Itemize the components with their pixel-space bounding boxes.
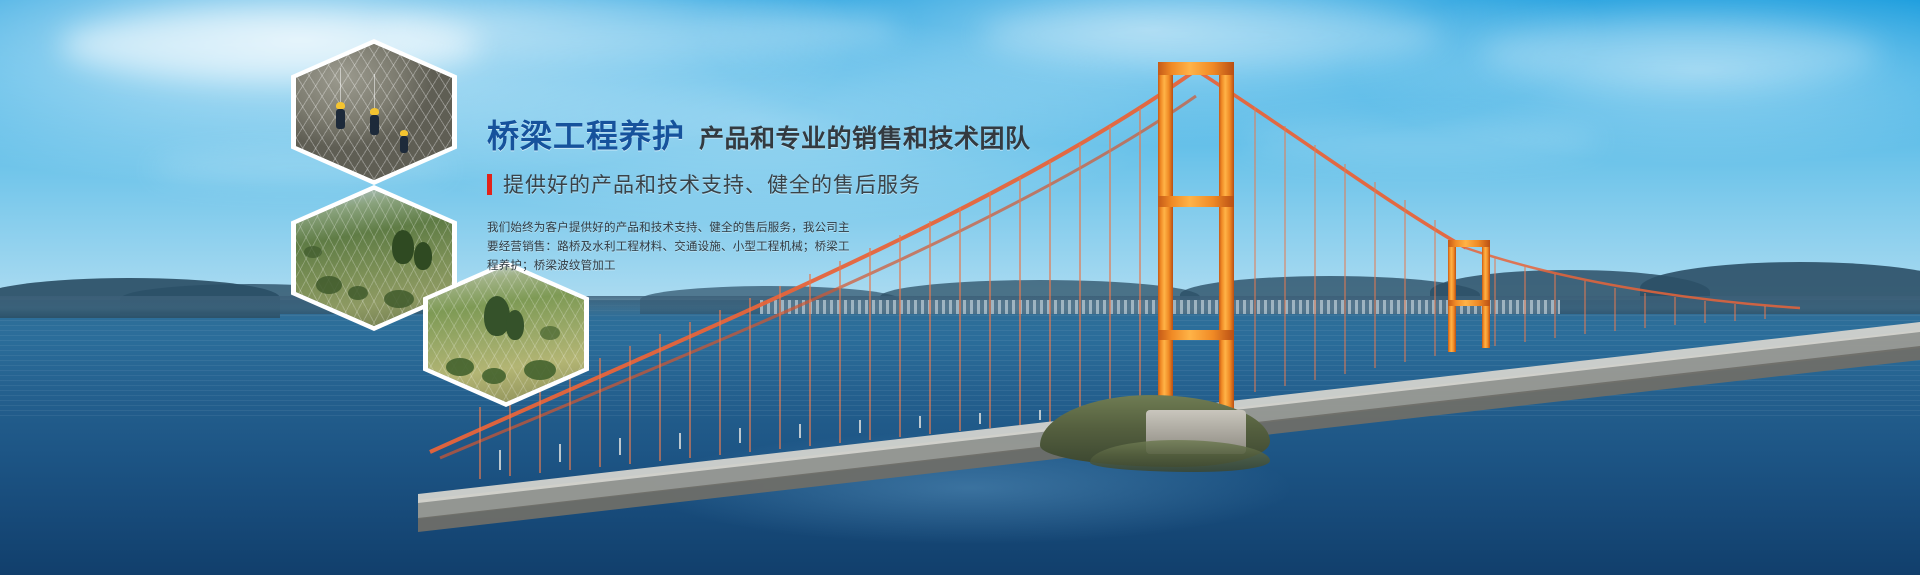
suspension-bridge [0,0,1920,575]
bridge-cables-svg [0,0,1920,575]
banner-headline: 桥梁工程养护 产品和专业的销售和技术团队 [487,120,1007,152]
banner-description: 我们始终为客户提供好的产品和技术支持、健全的售后服务，我公司主要经营销售：路桥及… [487,219,852,276]
bridge-tower-crossbeam [1158,196,1234,207]
bridge-tower-leg [1219,62,1234,414]
bridge-far-tower-leg [1448,240,1456,352]
headline-primary: 桥梁工程养护 [487,120,685,152]
banner-copy: 桥梁工程养护 产品和专业的销售和技术团队 提供好的产品和技术支持、健全的售后服务… [487,120,1007,276]
bridge-far-tower-crossbeam [1448,300,1490,306]
bridge-far-tower-crossbeam [1448,240,1490,247]
banner-subheadline: 提供好的产品和技术支持、健全的售后服务 [487,169,1007,199]
headline-secondary: 产品和专业的销售和技术团队 [699,127,1031,152]
subheadline-text: 提供好的产品和技术支持、健全的售后服务 [503,169,921,199]
bridge-tower-crossbeam [1158,62,1234,75]
hero-banner: 桥梁工程养护 产品和专业的销售和技术团队 提供好的产品和技术支持、健全的售后服务… [0,0,1920,575]
bridge-tower-leg [1158,62,1173,422]
bridge-far-tower-leg [1482,240,1490,348]
bridge-tower-crossbeam [1158,330,1234,340]
accent-bar-icon [487,174,492,195]
